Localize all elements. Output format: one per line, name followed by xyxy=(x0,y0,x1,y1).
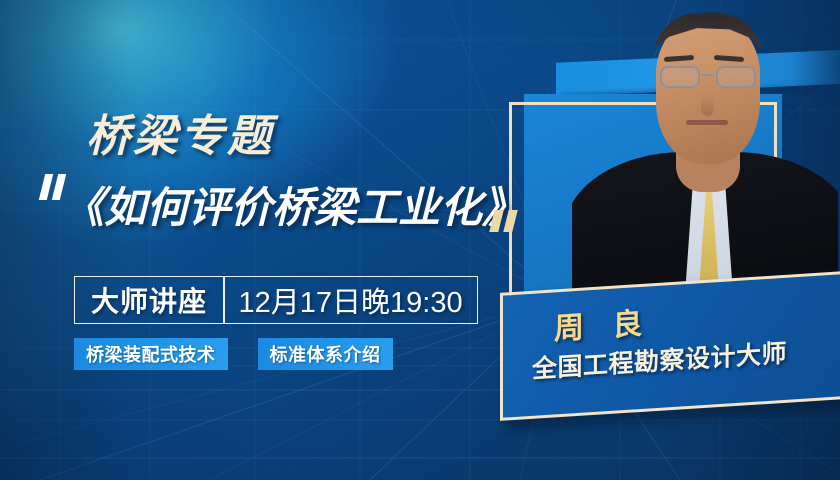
portrait-head xyxy=(656,16,760,164)
tag-list: 桥梁装配式技术 标准体系介绍 xyxy=(74,338,393,370)
page-subtitle: 《如何评价桥梁工业化》 xyxy=(62,174,524,235)
portrait-nose xyxy=(701,94,714,116)
lecture-info-box: 大师讲座 12月17日晚19:30 xyxy=(74,276,478,324)
tag-item-1[interactable]: 标准体系介绍 xyxy=(258,338,393,370)
speaker-name-content: 周 良 全国工程勘察设计大师 xyxy=(524,282,840,412)
portrait-glasses xyxy=(656,64,760,90)
glasses-bridge xyxy=(702,74,714,76)
lecture-label: 大师讲座 xyxy=(75,277,223,323)
glasses-lens-right xyxy=(716,66,756,88)
page-title: 桥梁专题 xyxy=(86,100,274,164)
quote-close-icon xyxy=(492,210,515,232)
speaker-portrait xyxy=(572,2,838,302)
portrait-mouth xyxy=(686,120,728,125)
lecture-date: 12月17日晚19:30 xyxy=(225,277,477,323)
glasses-lens-left xyxy=(660,66,700,88)
quote-open-icon xyxy=(42,174,63,200)
tag-item-0[interactable]: 桥梁装配式技术 xyxy=(74,338,228,370)
poster-canvas: 周 良 全国工程勘察设计大师 桥梁专题 《如何评价桥梁工业化》 大师讲座 12月… xyxy=(0,0,840,480)
